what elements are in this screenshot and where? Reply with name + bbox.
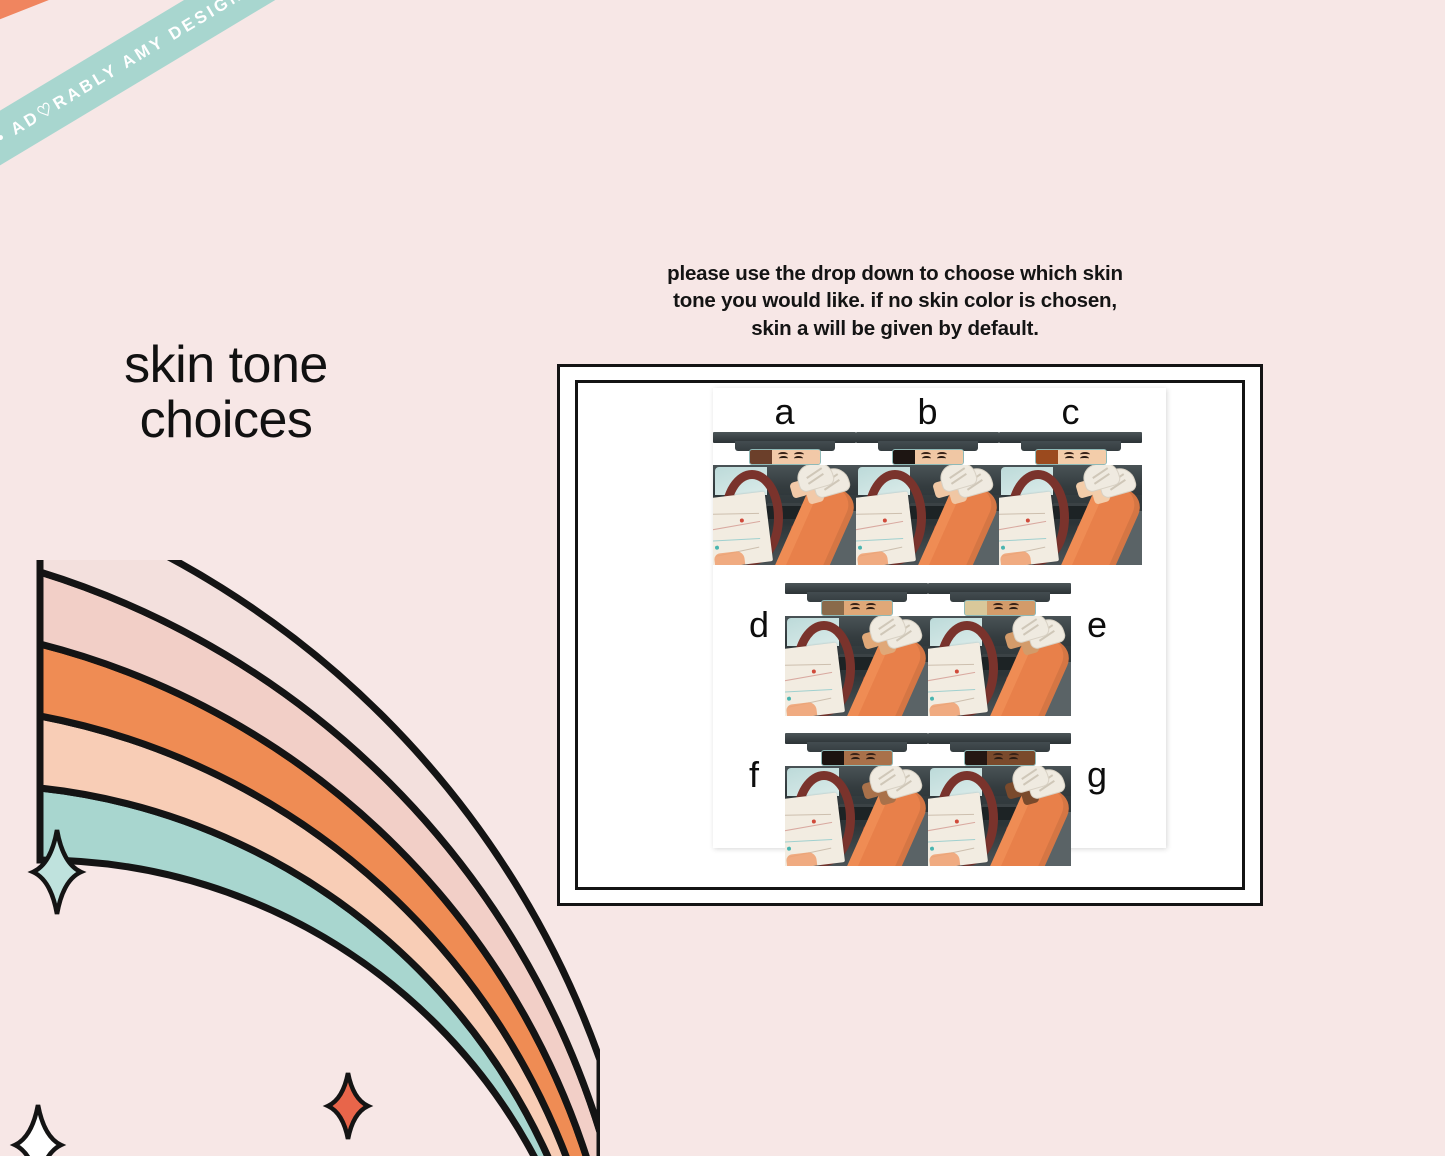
mirror-glass-e	[964, 600, 1036, 616]
car-scene-e	[928, 616, 1071, 716]
paper-map-a	[713, 491, 773, 565]
sample-letter-d: d	[749, 607, 769, 643]
page-title: skin tone choices	[104, 338, 348, 447]
sample-letter-g: g	[1087, 757, 1107, 793]
sparkle-white-icon	[15, 1105, 61, 1156]
sample-g[interactable]: g	[928, 733, 1071, 866]
sparkle-orange-icon	[328, 1073, 368, 1139]
instruction-line-2: tone you would like. if no skin color is…	[655, 287, 1135, 314]
face-b	[915, 450, 964, 465]
mirror-glass-g	[964, 750, 1036, 766]
face-e	[987, 601, 1036, 616]
rearview-mirror-a	[713, 432, 856, 465]
instruction-text: please use the drop down to choose which…	[655, 260, 1135, 342]
sample-a[interactable]: a	[713, 432, 856, 565]
sample-row-de: d	[785, 583, 1071, 716]
sample-letter-a: a	[774, 394, 794, 430]
page-title-line2: choices	[104, 393, 348, 448]
eye-right-a	[794, 456, 803, 461]
car-scene-a	[713, 465, 856, 565]
sample-row-fg: f	[785, 733, 1071, 866]
car-scene-c	[999, 465, 1142, 565]
skin-tone-panel-inner-frame: a	[575, 380, 1245, 890]
eye-left-a	[779, 456, 788, 461]
sample-b[interactable]: b	[856, 432, 999, 565]
page-canvas: AD♡RABLY AMY DESIGNS• AD♡RABLY AMY DESIG…	[0, 0, 1445, 1156]
mirror-glass-f	[821, 750, 893, 766]
car-scene-d	[785, 616, 928, 716]
page-title-line1: skin tone	[124, 336, 328, 394]
sample-d[interactable]: d	[785, 583, 928, 716]
sample-letter-c: c	[1062, 394, 1080, 430]
watermark-teal-text: AD♡RABLY AMY DESIGNS• AD♡RABLY AMY DESIG…	[0, 0, 525, 294]
rearview-mirror-e	[928, 583, 1071, 616]
mirror-glass-d	[821, 600, 893, 616]
car-scene-b	[856, 465, 999, 565]
rainbow-decoration	[0, 560, 600, 1156]
sample-letter-e: e	[1087, 607, 1107, 643]
sample-letter-f: f	[749, 757, 759, 793]
sample-row-abc: a	[713, 432, 1142, 565]
rearview-mirror-b	[856, 432, 999, 465]
sample-f[interactable]: f	[785, 733, 928, 866]
face-d	[844, 601, 893, 616]
car-scene-f	[785, 766, 928, 866]
instruction-line-3: skin a will be given by default.	[655, 315, 1135, 342]
face-a	[772, 450, 821, 465]
sample-e[interactable]: e	[928, 583, 1071, 716]
rearview-mirror-c	[999, 432, 1142, 465]
face-g	[987, 751, 1036, 766]
skin-tone-panel: a	[557, 364, 1263, 906]
mirror-glass-b	[892, 449, 964, 465]
rearview-mirror-g	[928, 733, 1071, 766]
sample-letter-b: b	[917, 394, 937, 430]
instruction-line-1: please use the drop down to choose which…	[655, 260, 1135, 287]
watermark-banner-teal: AD♡RABLY AMY DESIGNS• AD♡RABLY AMY DESIG…	[0, 0, 676, 308]
face-c	[1058, 450, 1107, 465]
rearview-mirror-f	[785, 733, 928, 766]
mirror-glass-a	[749, 449, 821, 465]
sample-c[interactable]: c	[999, 432, 1142, 565]
car-scene-g	[928, 766, 1071, 866]
face-f	[844, 751, 893, 766]
rearview-mirror-d	[785, 583, 928, 616]
mirror-glass-c	[1035, 449, 1107, 465]
skin-tone-sheet: a	[713, 388, 1166, 848]
